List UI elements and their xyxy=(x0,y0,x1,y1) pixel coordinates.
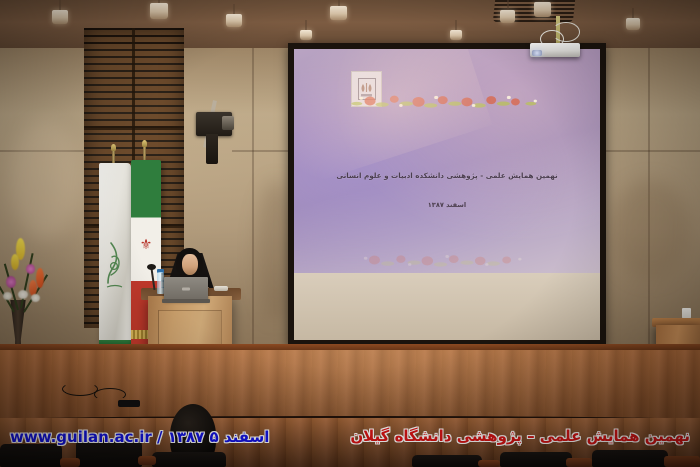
projection-screen-surface: نهمین همایش علمی - پژوهشی دانشکده ادبیات… xyxy=(294,49,600,340)
flower-bloom xyxy=(31,294,40,302)
pendant-light xyxy=(150,3,168,19)
laptop-base xyxy=(162,299,210,303)
audience-seat xyxy=(0,444,62,467)
seat-armrest xyxy=(138,456,156,465)
projected-slide: نهمین همایش علمی - پژوهشی دانشکده ادبیات… xyxy=(294,49,600,273)
wall-seam xyxy=(252,48,254,348)
podium-paper-item xyxy=(214,286,228,291)
seat-armrest xyxy=(566,458,592,467)
university-flag-emblem-icon xyxy=(105,235,125,293)
microphone-icon xyxy=(147,264,156,270)
pendant-light xyxy=(300,30,312,40)
university-of-gilan-flag xyxy=(99,163,131,348)
flower-bloom xyxy=(18,290,28,299)
pendant-light xyxy=(500,10,515,23)
slide-date: اسفند ۱۳۸۷ xyxy=(312,201,581,209)
flower-bloom xyxy=(26,264,35,274)
pendant-light xyxy=(330,6,347,20)
laptop-logo xyxy=(182,288,190,291)
audience-seat xyxy=(592,450,668,467)
wall-texture-patch xyxy=(10,120,80,240)
screen-blank-area xyxy=(294,273,600,340)
seat-armrest xyxy=(664,456,700,467)
flower-bloom xyxy=(6,276,16,288)
floral-ornament-bottom-icon xyxy=(337,252,557,268)
conference-name-caption: نهمین همایش علمی – پژوهشی دانشگاه گیلان xyxy=(350,427,690,445)
projector-lens-icon xyxy=(532,50,542,56)
screen-glare xyxy=(294,49,493,191)
flower-bloom xyxy=(36,268,44,288)
water-bottle xyxy=(157,272,164,294)
panel-divider xyxy=(84,126,184,130)
website-and-date-caption: www.guilan.ac.ir / ۱۳۸۷ اسفند ۵ xyxy=(10,428,269,446)
pendant-light xyxy=(450,30,462,40)
audience-seat xyxy=(152,452,226,467)
iran-flag-emblem-icon: ⚜ xyxy=(140,237,153,251)
flower-bloom xyxy=(3,292,12,300)
pendant-light xyxy=(626,18,640,30)
seat-armrest xyxy=(60,458,80,467)
presenter-face xyxy=(182,254,198,275)
pendant-light xyxy=(534,2,551,17)
audience-seat xyxy=(412,455,482,467)
wall-texture-patch xyxy=(610,180,690,280)
flagpole-finial xyxy=(142,140,147,147)
floral-ornament-top-icon xyxy=(337,93,557,109)
laptop-screen xyxy=(164,277,208,301)
wall-seam xyxy=(232,150,290,152)
pendant-light xyxy=(226,14,242,27)
floor-power-strip xyxy=(118,400,140,407)
projection-screen: نهمین همایش علمی - پژوهشی دانشکده ادبیات… xyxy=(288,43,606,346)
flower-bloom xyxy=(11,254,19,270)
pendant-light xyxy=(52,10,68,24)
seat-armrest xyxy=(478,460,500,467)
auditorium-photo: نهمین همایش علمی - پژوهشی دانشکده ادبیات… xyxy=(0,0,700,467)
projector-cable xyxy=(552,22,580,42)
camera-lens-icon xyxy=(222,116,234,130)
wall-seam xyxy=(606,150,700,152)
audience-seat xyxy=(500,452,572,467)
camera-support-post xyxy=(206,134,218,164)
floor-cable xyxy=(62,382,98,396)
flagpole-finial xyxy=(111,144,116,151)
slide-title: نهمین همایش علمی - پژوهشی دانشکده ادبیات… xyxy=(312,171,581,180)
